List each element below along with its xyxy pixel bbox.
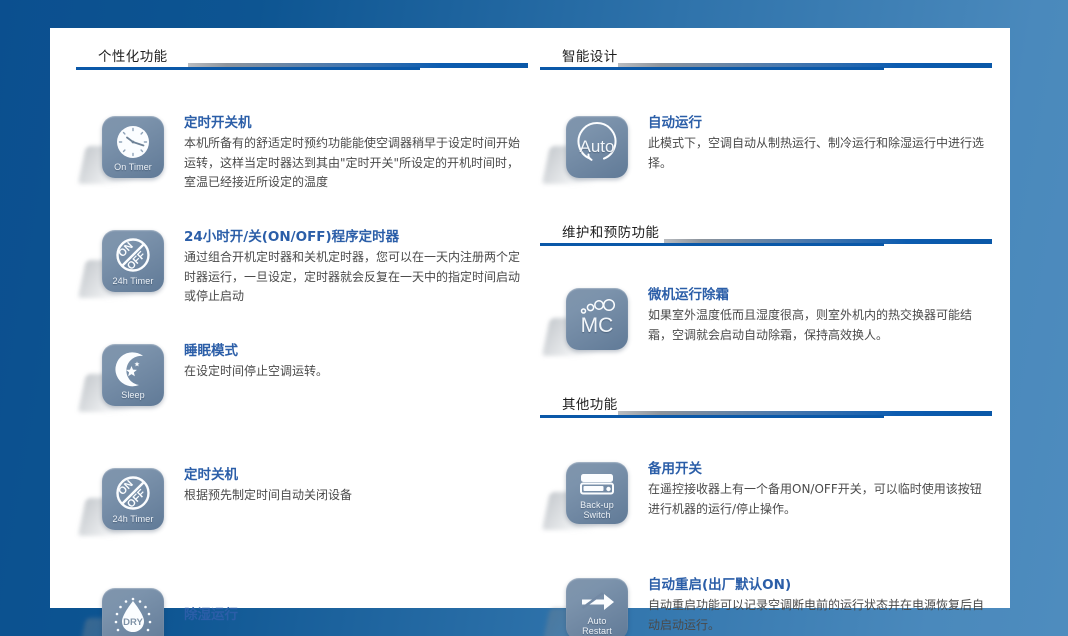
icon-sleep: Sleep bbox=[76, 340, 184, 426]
feature-description: 通过组合开机定时器和关机定时器，您可以在一天内注册两个定时器运行，一旦设定，定时… bbox=[184, 248, 528, 307]
feature-columns: 个性化功能 bbox=[50, 28, 1010, 608]
tile: ON OFF 24h Timer bbox=[102, 230, 164, 292]
section-rule bbox=[540, 415, 884, 418]
auto-glyph-label: Auto bbox=[566, 137, 628, 157]
feature-title: 睡眠模式 bbox=[184, 342, 528, 361]
section-title-other: 其他功能 bbox=[562, 393, 618, 413]
feature-text: 除湿运行 bbox=[184, 584, 528, 626]
icon-auto: Auto bbox=[540, 112, 648, 198]
feature-text: 定时开关机 本机所备有的舒适定时预约功能能使空调器稍早于设定时间开始运转，这样当… bbox=[184, 112, 528, 193]
section-header-other: 其他功能 bbox=[540, 392, 992, 418]
section-title-personalized: 个性化功能 bbox=[98, 45, 168, 65]
tile-caption-line-2: Restart bbox=[566, 626, 628, 636]
feature-description: 根据预先制定时间自动关闭设备 bbox=[184, 486, 528, 506]
feature-description: 在设定时间停止空调运转。 bbox=[184, 362, 528, 382]
tile-caption-line-1: Auto bbox=[566, 616, 628, 626]
tile-caption-line-1: Back-up bbox=[566, 500, 628, 510]
svg-text:DRY: DRY bbox=[123, 617, 143, 628]
icon-dry: DRY bbox=[76, 584, 184, 636]
feature-title: 24小时开/关(ON/OFF)程序定时器 bbox=[184, 228, 528, 247]
feature-sleep: Sleep 睡眠模式 在设定时间停止空调运转。 bbox=[76, 340, 528, 426]
icon-auto-restart: Auto Restart bbox=[540, 574, 648, 636]
feature-24h-timer: ON OFF 24h Timer 24小时开/关(ON/OFF)程序定时器 通过… bbox=[76, 226, 528, 312]
tile: DRY bbox=[102, 588, 164, 636]
feature-text: 定时关机 根据预先制定时间自动关闭设备 bbox=[184, 464, 528, 506]
section-rule bbox=[540, 243, 884, 246]
section-bar-cap bbox=[512, 63, 528, 68]
icon-24h-timer: ON OFF 24h Timer bbox=[76, 226, 184, 312]
feature-title: 定时开关机 bbox=[184, 114, 528, 133]
feature-auto: Auto 自动运行 此模式下，空调自动从制热运行、制冷运行和除湿运行中进行选择。 bbox=[540, 112, 992, 198]
section-title-maintenance: 维护和预防功能 bbox=[562, 221, 659, 241]
icon-mc: MC bbox=[540, 284, 648, 370]
icon-on-timer: On Timer bbox=[76, 112, 184, 198]
feature-off-timer: ON OFF 24h Timer 定时关机 根据预先制定时间自动关闭设备 bbox=[76, 464, 528, 550]
tile: Auto bbox=[566, 116, 628, 178]
feature-text: 自动运行 此模式下，空调自动从制热运行、制冷运行和除湿运行中进行选择。 bbox=[648, 112, 992, 173]
mc-glyph-label: MC bbox=[566, 314, 628, 338]
section-header-personalized: 个性化功能 bbox=[76, 44, 528, 70]
tile: On Timer bbox=[102, 116, 164, 178]
feature-text: 备用开关 在遥控接收器上有一个备用ON/OFF开关，可以临时使用该按钮进行机器的… bbox=[648, 458, 992, 519]
feature-text: 24小时开/关(ON/OFF)程序定时器 通过组合开机定时器和关机定时器，您可以… bbox=[184, 226, 528, 307]
right-column: 智能设计 Auto 自动运行 此模式下，空调自动从制热运行、制冷运行和除湿运行中… bbox=[540, 28, 992, 608]
feature-text: 微机运行除霜 如果室外温度低而且湿度很高，则室外机内的热交换器可能结霜，空调就会… bbox=[648, 284, 992, 345]
section-rule bbox=[540, 67, 884, 70]
left-column: 个性化功能 bbox=[76, 28, 528, 608]
tile: Sleep bbox=[102, 344, 164, 406]
feature-title: 除湿运行 bbox=[184, 606, 528, 625]
feature-mc-defrost: MC 微机运行除霜 如果室外温度低而且湿度很高，则室外机内的热交换器可能结霜，空… bbox=[540, 284, 992, 370]
tile-caption: 24h Timer bbox=[102, 514, 164, 524]
tile-caption: On Timer bbox=[102, 162, 164, 172]
section-rule bbox=[76, 67, 420, 70]
tile: ON OFF 24h Timer bbox=[102, 468, 164, 530]
section-title-smart-design: 智能设计 bbox=[562, 45, 618, 65]
feature-title: 自动重启(出厂默认ON) bbox=[648, 576, 992, 595]
tile: MC bbox=[566, 288, 628, 350]
section-bar-cap bbox=[976, 63, 992, 68]
feature-title: 自动运行 bbox=[648, 114, 992, 133]
tile-caption-line-2: Switch bbox=[566, 510, 628, 520]
feature-title: 微机运行除霜 bbox=[648, 286, 992, 305]
feature-text: 自动重启(出厂默认ON) 自动重启功能可以记录空调断电前的运行状态并在电源恢复后… bbox=[648, 574, 992, 635]
tile-caption: 24h Timer bbox=[102, 276, 164, 286]
tile: Auto Restart bbox=[566, 578, 628, 636]
feature-title: 备用开关 bbox=[648, 460, 992, 479]
section-bar-cap bbox=[976, 411, 992, 416]
tile-caption: Sleep bbox=[102, 390, 164, 400]
icon-backup-switch: Back-up Switch bbox=[540, 458, 648, 544]
dry-droplet-icon: DRY bbox=[102, 588, 164, 636]
feature-backup-switch: Back-up Switch 备用开关 在遥控接收器上有一个备用ON/OFF开关… bbox=[540, 458, 992, 544]
feature-title: 定时关机 bbox=[184, 466, 528, 485]
feature-description: 在遥控接收器上有一个备用ON/OFF开关，可以临时使用该按钮进行机器的运行/停止… bbox=[648, 480, 992, 519]
feature-description: 此模式下，空调自动从制热运行、制冷运行和除湿运行中进行选择。 bbox=[648, 134, 992, 173]
feature-text: 睡眠模式 在设定时间停止空调运转。 bbox=[184, 340, 528, 382]
feature-description: 如果室外温度低而且湿度很高，则室外机内的热交换器可能结霜，空调就会启动自动除霜，… bbox=[648, 306, 992, 345]
content-card: 个性化功能 bbox=[50, 28, 1010, 608]
feature-dry: DRY 除湿运行 bbox=[76, 584, 528, 636]
feature-description: 本机所备有的舒适定时预约功能能使空调器稍早于设定时间开始运转，这样当定时器达到其… bbox=[184, 134, 528, 193]
tile: Back-up Switch bbox=[566, 462, 628, 524]
feature-on-timer: On Timer 定时开关机 本机所备有的舒适定时预约功能能使空调器稍早于设定时… bbox=[76, 112, 528, 198]
feature-description: 自动重启功能可以记录空调断电前的运行状态并在电源恢复后自动启动运行。 bbox=[648, 596, 992, 635]
section-header-maintenance: 维护和预防功能 bbox=[540, 220, 992, 246]
icon-24h-timer-off: ON OFF 24h Timer bbox=[76, 464, 184, 550]
section-header-smart-design: 智能设计 bbox=[540, 44, 992, 70]
feature-auto-restart: Auto Restart 自动重启(出厂默认ON) 自动重启功能可以记录空调断电… bbox=[540, 574, 992, 636]
section-bar-cap bbox=[976, 239, 992, 244]
